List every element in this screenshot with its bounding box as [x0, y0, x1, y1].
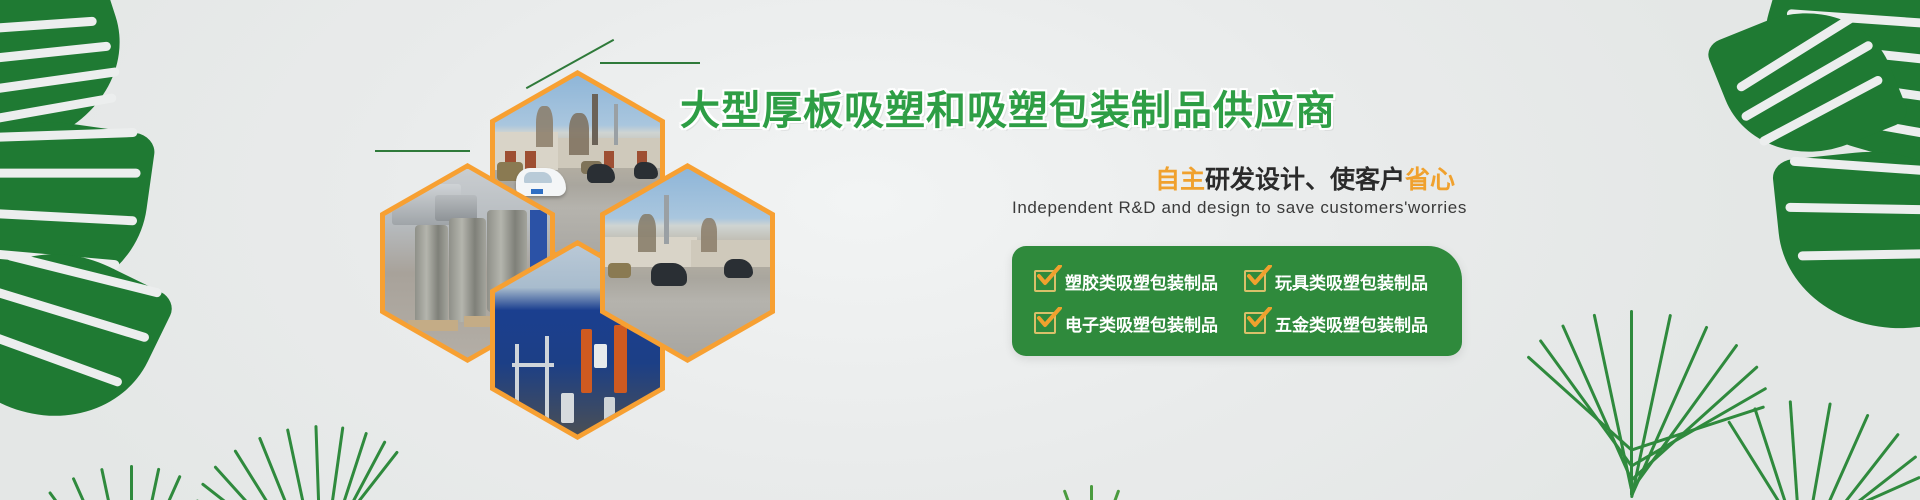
- palm-frond-bottom-right: [1460, 200, 1800, 420]
- english-tagline: Independent R&D and design to save custo…: [1012, 198, 1467, 218]
- monstera-leaf-right: [1740, 0, 1920, 169]
- feature-item-hardware[interactable]: 五金类吸塑包装制品: [1244, 311, 1444, 336]
- monstera-leaf-right-3: [1771, 140, 1920, 341]
- sub-headline: 自主研发设计、使客户省心: [1155, 160, 1455, 196]
- hex-accent-line-mid: [375, 150, 470, 152]
- sub-headline-highlight-prefix: 自主: [1155, 165, 1205, 194]
- features-card: 塑胶类吸塑包装制品 玩具类吸塑包装制品 电子类吸塑包: [1012, 246, 1462, 356]
- feature-label: 塑胶类吸塑包装制品: [1065, 269, 1218, 294]
- monstera-leaf-right-2: [1704, 0, 1911, 181]
- monstera-leaf-left-2: [0, 106, 157, 319]
- feature-label: 玩具类吸塑包装制品: [1275, 269, 1428, 294]
- shrub-bottom-center: [1000, 430, 1180, 500]
- page-title: 大型厚板吸塑和吸塑包装制品供应商: [680, 78, 1336, 136]
- palm-frond-bottom-left-2: [0, 380, 280, 500]
- feature-item-electronics[interactable]: 电子类吸塑包装制品: [1034, 311, 1234, 336]
- hex-accent-line-top-2: [600, 62, 700, 64]
- feature-label: 五金类吸塑包装制品: [1275, 311, 1428, 336]
- features-grid: 塑胶类吸塑包装制品 玩具类吸塑包装制品 电子类吸塑包: [1012, 246, 1462, 356]
- check-icon: [1244, 312, 1266, 334]
- monstera-leaf-left: [0, 0, 145, 165]
- feature-item-plastic[interactable]: 塑胶类吸塑包装制品: [1034, 269, 1234, 294]
- sub-headline-highlight-suffix: 省心: [1405, 165, 1455, 194]
- monstera-leaf-left-3: [0, 217, 178, 453]
- feature-item-toys[interactable]: 玩具类吸塑包装制品: [1244, 269, 1444, 294]
- palm-frond-bottom-right-2: [1640, 300, 1920, 500]
- foliage-decorations: [0, 0, 1920, 500]
- check-icon: [1034, 270, 1056, 292]
- check-icon: [1244, 270, 1266, 292]
- feature-label: 电子类吸塑包装制品: [1065, 311, 1218, 336]
- promo-banner: 大型厚板吸塑和吸塑包装制品供应商 自主研发设计、使客户省心 Independen…: [0, 0, 1920, 500]
- check-icon: [1034, 312, 1056, 334]
- sub-headline-middle: 研发设计、使客户: [1205, 165, 1405, 194]
